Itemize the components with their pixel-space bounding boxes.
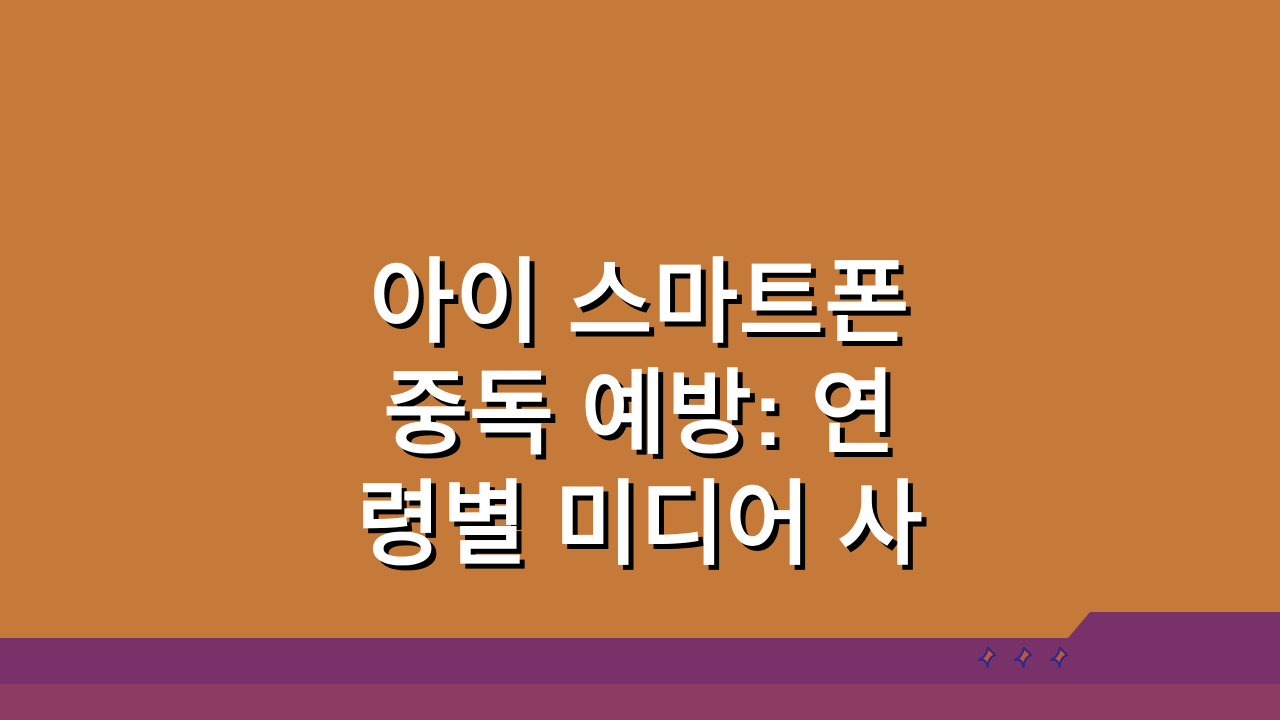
title-line-2: 중독 예방: 연: [0, 359, 1280, 470]
title-line-3: 령별 미디어 사: [0, 470, 1280, 581]
page-title: 아이 스마트폰 중독 예방: 연 령별 미디어 사: [0, 248, 1280, 581]
footer-upper-band: [0, 612, 1280, 684]
footer-lower-band: [0, 684, 1280, 720]
sparkle-icon: [1047, 645, 1073, 671]
title-card: 아이 스마트폰 중독 예방: 연 령별 미디어 사: [0, 0, 1280, 720]
sparkle-icon: [975, 645, 1001, 671]
footer-decoration: [0, 600, 1280, 720]
sparkle-icon: [1011, 645, 1037, 671]
title-line-1: 아이 스마트폰: [0, 248, 1280, 359]
sparkle-group: [975, 645, 1073, 671]
